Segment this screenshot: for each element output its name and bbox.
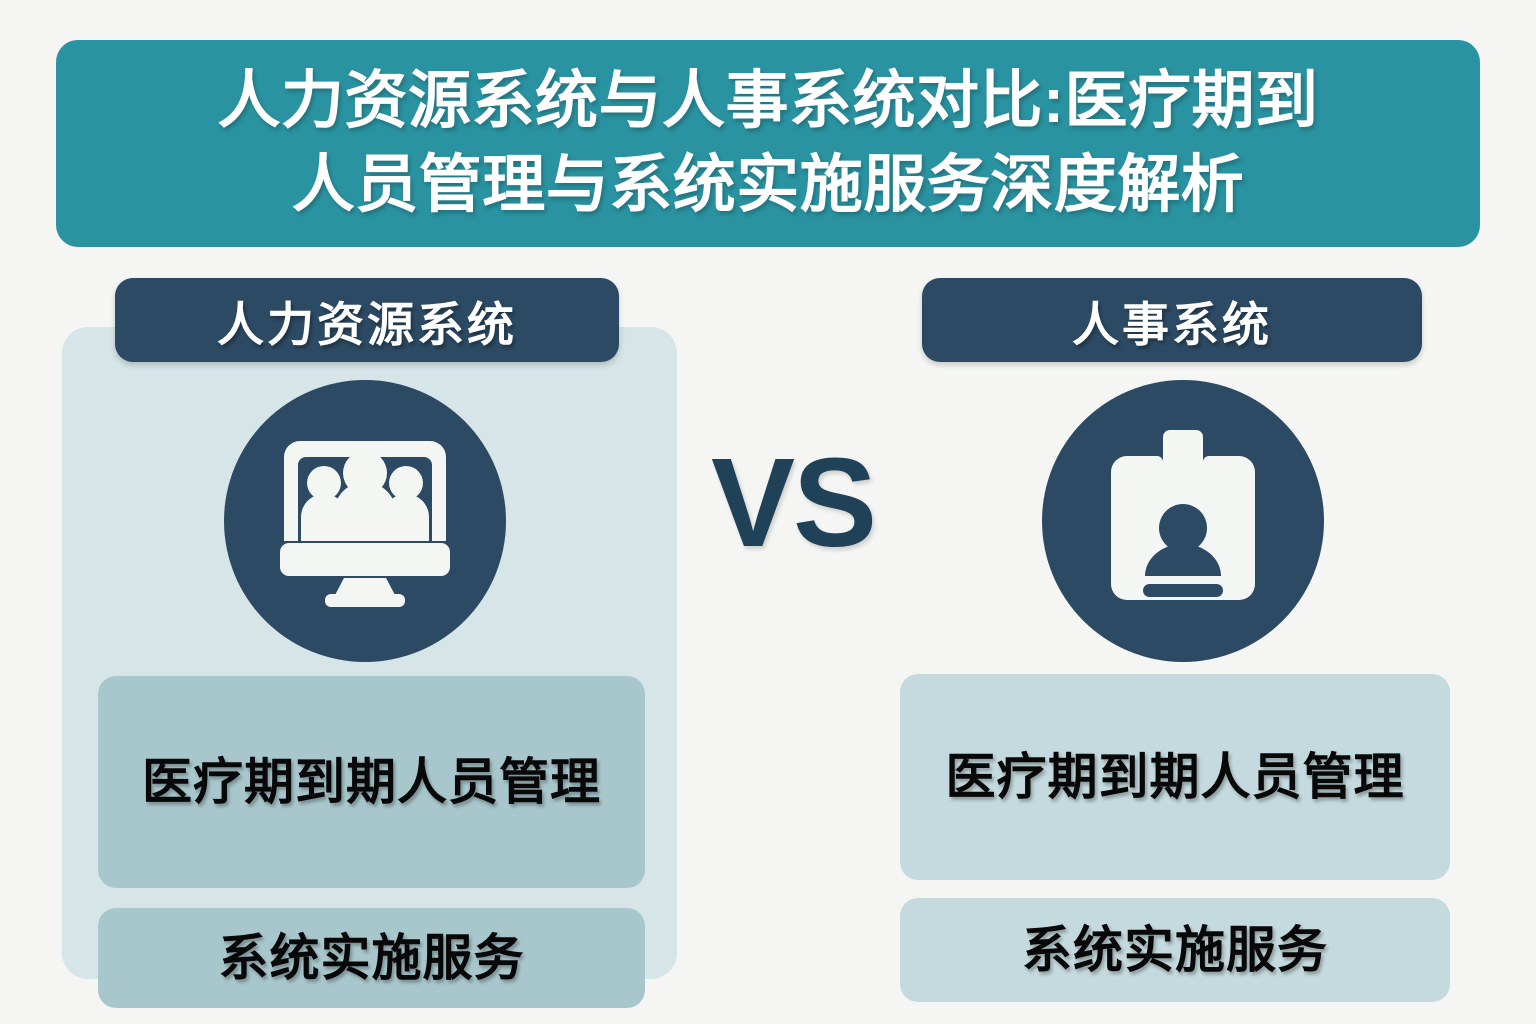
left-feature-label-1: 医疗期到期人员管理 (142, 753, 601, 812)
vs-divider-label: VS (688, 440, 898, 566)
left-feature-chip-2: 系统实施服务 (98, 908, 645, 1008)
right-feature-chip-1: 医疗期到期人员管理 (900, 674, 1450, 880)
comparison-column-right: 人事系统 医疗期到期人员管理 系统实施服务 (880, 278, 1470, 978)
left-feature-chip-1: 医疗期到期人员管理 (98, 676, 645, 888)
right-feature-chip-2: 系统实施服务 (900, 898, 1450, 1002)
right-column-heading-badge: 人事系统 (922, 278, 1422, 362)
right-feature-label-2: 系统实施服务 (1022, 921, 1328, 980)
left-feature-label-2: 系统实施服务 (219, 929, 525, 988)
right-feature-label-1: 医疗期到期人员管理 (946, 748, 1405, 807)
title-line-1: 人力资源系统与人事系统对比:医疗期到 (218, 60, 1319, 143)
monitor-people-icon (224, 380, 506, 662)
title-line-2: 人员管理与系统实施服务深度解析 (292, 144, 1245, 227)
infographic-canvas: 人力资源系统与人事系统对比:医疗期到 人员管理与系统实施服务深度解析 人力资源系… (0, 0, 1536, 1024)
left-column-heading-label: 人力资源系统 (217, 286, 517, 355)
id-badge-person-icon (1042, 380, 1324, 662)
left-column-heading-badge: 人力资源系统 (115, 278, 619, 362)
title-banner: 人力资源系统与人事系统对比:医疗期到 人员管理与系统实施服务深度解析 (56, 40, 1480, 247)
comparison-column-left: 人力资源系统 (58, 278, 678, 978)
right-column-heading-label: 人事系统 (1072, 286, 1272, 355)
